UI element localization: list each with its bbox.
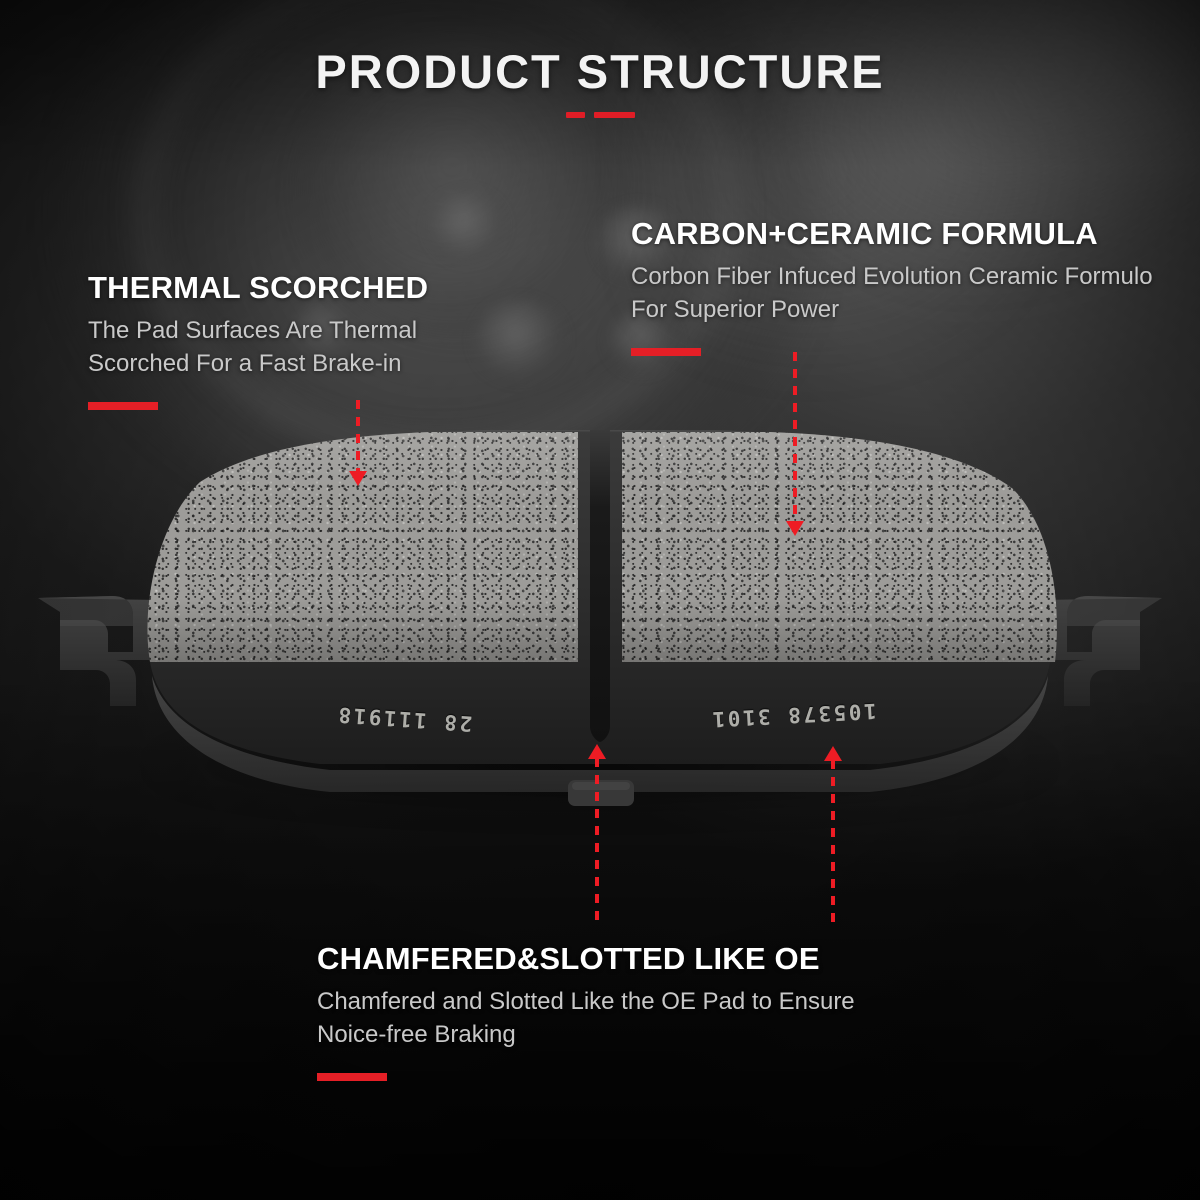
pad-left-ear-highlight: [38, 596, 133, 626]
title-accent-rule: [0, 112, 1200, 118]
product-structure-infographic: PRODUCT STRUCTURE: [0, 0, 1200, 1200]
callout-body: Chamfered and Slotted Like the OE Pad to…: [317, 986, 897, 1051]
callout-heading: THERMAL SCORCHED: [88, 270, 488, 306]
dashed-line: [831, 760, 835, 926]
pad-right-ear-highlight: [1067, 596, 1162, 626]
brake-pad-illustration: [0, 430, 1200, 830]
callout-heading: CARBON+CERAMIC FORMULA: [631, 216, 1171, 252]
arrow-down-icon: [349, 471, 367, 486]
pad-center-tab-highlight: [572, 782, 630, 790]
callout-body: Corbon Fiber Infuced Evolution Ceramic F…: [631, 261, 1171, 326]
dashed-line: [595, 758, 599, 926]
pad-center-slot: [590, 430, 610, 742]
arrow-up-icon: [588, 744, 606, 759]
callout-accent-bar: [631, 348, 701, 356]
callout-body: The Pad Surfaces Are Thermal Scorched Fo…: [88, 315, 488, 380]
arrow-down-icon: [786, 521, 804, 536]
callout-accent-bar: [88, 402, 158, 410]
callout-chamfered-slotted: CHAMFERED&SLOTTED LIKE OE Chamfered and …: [317, 941, 897, 1081]
dashed-line: [793, 352, 797, 522]
callout-accent-bar: [317, 1073, 387, 1081]
callout-thermal-scorched: THERMAL SCORCHED The Pad Surfaces Are Th…: [88, 270, 488, 410]
page-title: PRODUCT STRUCTURE: [0, 44, 1200, 99]
arrow-up-icon: [824, 746, 842, 761]
callout-heading: CHAMFERED&SLOTTED LIKE OE: [317, 941, 897, 977]
dashed-line: [356, 400, 360, 472]
accent-dash-short: [566, 112, 585, 118]
callout-carbon-ceramic-formula: CARBON+CERAMIC FORMULA Corbon Fiber Infu…: [631, 216, 1171, 356]
accent-dash-long: [594, 112, 635, 118]
